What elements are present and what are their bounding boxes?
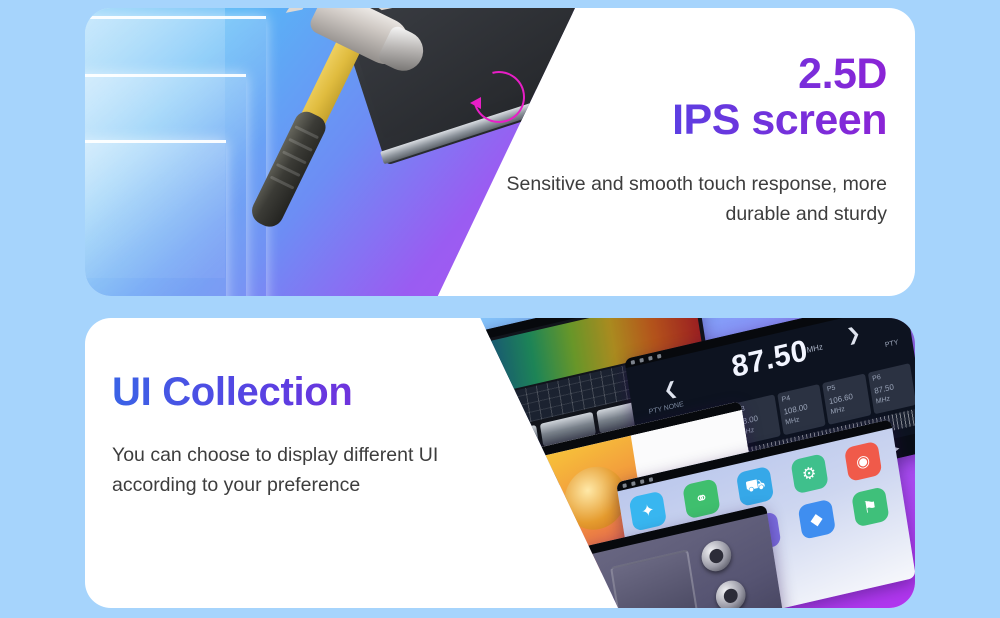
center-display: [610, 549, 702, 608]
browser-icon[interactable]: ◉: [844, 441, 882, 482]
ui-collection-description: You can choose to display different UI a…: [112, 440, 452, 501]
recents-icon: [648, 355, 653, 360]
recents-icon: [640, 479, 645, 484]
poster-stage: 2.5D IPS screen Sensitive and smooth tou…: [0, 0, 1000, 618]
page-title-ui-collection: UI Collection: [112, 370, 452, 415]
ui-collection-text-block: UI Collection You can choose to display …: [112, 370, 452, 520]
volume-icon: [649, 477, 654, 482]
page-title-ips: 2.5D IPS screen: [487, 52, 887, 143]
home-icon: [631, 481, 636, 486]
clock-date: MON 2019 MAR: [468, 502, 550, 528]
volume-icon: [481, 463, 486, 468]
preset-button[interactable]: [483, 425, 540, 460]
back-icon: [622, 483, 627, 488]
headline-line-1: 2.5D: [798, 50, 887, 98]
navigation-icon[interactable]: ►: [495, 602, 507, 608]
back-icon: [511, 565, 516, 570]
home-icon: [639, 357, 644, 362]
car-icon[interactable]: ⛟: [736, 466, 774, 507]
home-icon: [419, 347, 424, 352]
bluetooth-icon[interactable]: ✦: [629, 490, 667, 531]
recents-icon: [427, 345, 432, 350]
radio-preset-6[interactable]: P6 87.50 MHz: [867, 363, 915, 414]
display-slab-1: [522, 588, 567, 608]
home-icon: [520, 563, 525, 568]
feature-card-ips-screen: 2.5D IPS screen Sensitive and smooth tou…: [85, 8, 915, 296]
radio-icon[interactable]: ◉: [553, 588, 564, 603]
clock-widget[interactable]: 13:36 MON 2019 MAR: [450, 456, 563, 603]
settings-icon[interactable]: ⚙: [790, 453, 828, 494]
location-icon[interactable]: ⚑: [851, 486, 889, 527]
volume-icon: [537, 559, 542, 564]
recents-icon: [528, 561, 533, 566]
maps-icon[interactable]: ◆: [797, 499, 835, 540]
ips-screen-description: Sensitive and smooth touch response, mor…: [487, 169, 887, 229]
recents-icon: [472, 465, 477, 470]
radio-pty-label[interactable]: PTY: [885, 339, 899, 349]
home-icon: [463, 467, 468, 472]
hammer-grip: [247, 108, 329, 232]
ips-screen-text-block: 2.5D IPS screen Sensitive and smooth tou…: [487, 52, 887, 249]
back-icon: [631, 359, 636, 364]
radio-preset-4[interactable]: P4 108.00 MHz: [777, 384, 826, 435]
headline-line-2: IPS screen: [487, 98, 887, 144]
glass-sheet-3: [85, 140, 226, 296]
link-icon[interactable]: ⚭: [682, 478, 720, 519]
volume-icon: [436, 343, 441, 348]
knob-control[interactable]: [714, 578, 748, 608]
preset-button[interactable]: [487, 452, 544, 487]
feature-card-ui-collection: ❮ 87.50 MHz ❯ PTY PTY NONE P1 87.50 MHz …: [85, 318, 915, 608]
seek-up-icon[interactable]: ❯: [845, 323, 862, 346]
back-icon: [410, 349, 415, 354]
knob-control[interactable]: [699, 538, 733, 574]
volume-icon: [657, 353, 662, 358]
knob-control[interactable]: [574, 575, 608, 608]
ui-themes-collage: ❮ 87.50 MHz ❯ PTY PTY NONE P1 87.50 MHz …: [385, 318, 915, 608]
radio-preset-5[interactable]: P5 106.60 MHz: [822, 374, 871, 425]
clock-time: 13:36: [463, 470, 549, 517]
back-icon: [454, 469, 459, 474]
